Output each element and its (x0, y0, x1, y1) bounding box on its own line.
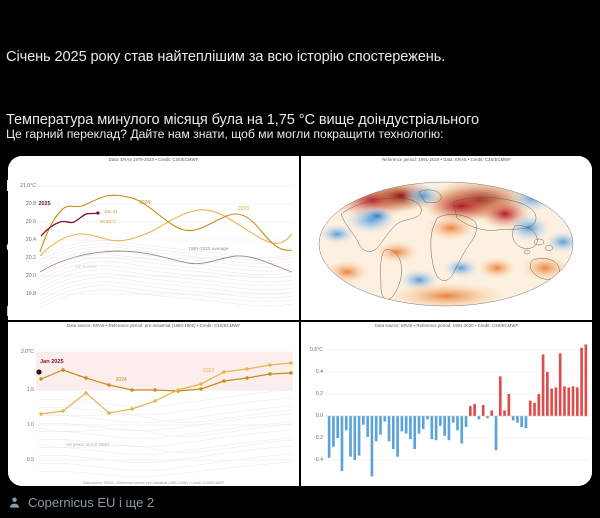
bar (580, 348, 583, 416)
post-footer: Copernicus EU і ще 2 (8, 490, 588, 514)
chart1-label-jan31: Jan 31 (104, 209, 118, 214)
bar (469, 406, 472, 416)
chart3-footnote: Data source: ERA5 • Reference period: pr… (8, 481, 299, 485)
bar (546, 372, 549, 416)
bar (375, 416, 378, 441)
bar (435, 416, 438, 440)
bar (567, 387, 570, 416)
chart1-label-2023: 2023 (238, 206, 249, 212)
bar (341, 416, 344, 471)
bar (396, 416, 399, 457)
bar (550, 389, 553, 417)
bar (512, 416, 515, 420)
bar (516, 416, 519, 423)
bar (499, 376, 502, 416)
translation-feedback-note: Це гарний переклад? Дайте нам знати, щоб… (6, 126, 596, 142)
bar (358, 416, 361, 456)
bar (336, 416, 339, 438)
bar (525, 416, 528, 428)
bar (460, 416, 463, 444)
bar (486, 416, 489, 418)
bar (413, 416, 416, 449)
chart1-y-axis: 21.0°C 20.8 20.6 20.4 20.2 20.0 19.8 (8, 156, 36, 320)
bar (418, 416, 421, 434)
bar (585, 345, 588, 417)
chart3-svg (8, 322, 299, 486)
bar (392, 416, 395, 449)
bar (495, 416, 498, 450)
chart1-label-2024: 2024 (139, 200, 150, 206)
bar (529, 401, 532, 416)
bar (409, 416, 412, 439)
chart3-ytick-2: 1.0 (27, 422, 34, 428)
chart4-ytick-3: 0.0 (316, 413, 323, 419)
bar (537, 394, 540, 416)
footer-attribution[interactable]: Copernicus EU і ще 2 (28, 495, 154, 510)
chart4-caption: Data source: ERA5 • Reference period: 19… (301, 322, 592, 328)
bar (388, 416, 391, 441)
person-icon (8, 496, 21, 509)
chart1-ytick-5: 20.0 (26, 273, 36, 279)
post-line-1: Січень 2025 року став найтеплішим за всю… (6, 47, 596, 68)
chart3-ytick-3: 0.5 (27, 457, 34, 463)
bar (345, 416, 348, 430)
chart1-ytick-0: 21.0°C (20, 183, 36, 189)
chart4-ytick-2: 0.2 (316, 391, 323, 397)
chart3-label-2023: 2023 (203, 368, 214, 374)
bar (572, 386, 575, 416)
chart4-ytick-1: 0.4 (316, 369, 323, 375)
chart1-ytick-6: 19.8 (26, 291, 36, 297)
bar (383, 416, 386, 422)
bar (443, 416, 446, 436)
bar (439, 416, 442, 426)
chart3-label-jan2025: Jan 2025 (40, 359, 64, 365)
chart3-label-all-years: All years since 1940 (66, 443, 109, 448)
bar (542, 354, 545, 416)
chart1-ytick-2: 20.6 (26, 219, 36, 225)
bar (465, 416, 468, 427)
chart1-caption: Data: ERA5 1979-2024 • Credit: C3S/ECMWF (8, 156, 299, 162)
bar (576, 387, 579, 416)
bar (533, 403, 536, 416)
chart3-ytick-0: 2.0°C (21, 349, 34, 355)
chart3-label-2024: 2024 (116, 377, 127, 383)
bar (448, 416, 451, 440)
post-screenshot: Січень 2025 року став найтеплішим за всю… (0, 0, 600, 518)
bar (353, 416, 356, 460)
bar (366, 416, 369, 437)
chart4-svg (301, 322, 592, 486)
chart-global-anomaly-map[interactable]: Reference period: 1991-2020 • Data: ERA5… (301, 156, 592, 320)
chart4-ytick-0: 0.6°C (310, 347, 323, 353)
bar (452, 416, 455, 423)
bar (563, 386, 566, 416)
bar (482, 405, 485, 416)
map-svg (301, 156, 592, 320)
bar (422, 416, 425, 429)
chart4-y-axis: 0.6°C 0.4 0.2 0.0 -0.2 -0.4 (301, 322, 323, 486)
bar (349, 416, 352, 457)
bar (490, 411, 493, 417)
bar (332, 416, 335, 447)
chart1-label-average: 1991-2020 average (188, 246, 228, 251)
bar (559, 353, 562, 416)
bar (371, 416, 374, 477)
bar (555, 387, 558, 416)
chart3-ytick-1: 1.5 (27, 387, 34, 393)
bar (503, 411, 506, 417)
chart4-ytick-4: -0.2 (314, 435, 323, 441)
chart4-ytick-5: -0.4 (314, 457, 323, 463)
bar (473, 404, 476, 416)
bar (426, 416, 429, 419)
chart3-caption: Data source: ERA5 • Reference period: pr… (8, 322, 299, 328)
bar (431, 416, 434, 439)
bar (478, 416, 481, 419)
bar (405, 416, 408, 434)
chart2-caption: Reference period: 1991-2020 • Data: ERA5… (301, 156, 592, 162)
chart1-label-jan31-value: 20.83°C (100, 219, 117, 224)
bar (508, 394, 511, 416)
chart1-ytick-1: 20.8 (26, 201, 36, 207)
media-grid[interactable]: Data: ERA5 1979-2024 • Credit: C3S/ECMWF (8, 156, 592, 486)
chart3-y-axis: 2.0°C 1.5 1.0 0.5 (8, 322, 34, 486)
bar (456, 416, 459, 430)
bar (520, 416, 523, 427)
chart1-ytick-4: 20.2 (26, 255, 36, 261)
chart1-svg (8, 156, 299, 320)
chart-january-vs-preindustrial[interactable]: Data source: ERA5 • Reference period: pr… (8, 322, 299, 486)
chart-january-anomaly-bars[interactable]: Data source: ERA5 • Reference period: 19… (301, 322, 592, 486)
bar (362, 416, 365, 425)
bar (401, 416, 404, 431)
chart1-ytick-3: 20.4 (26, 237, 36, 243)
bar (328, 416, 331, 458)
chart1-label-all-years: 1979-2022 (75, 264, 97, 269)
chart-daily-global-temperature[interactable]: Data: ERA5 1979-2024 • Credit: C3S/ECMWF (8, 156, 299, 320)
bar (379, 416, 382, 435)
chart1-label-2025: 2025 (39, 201, 51, 207)
